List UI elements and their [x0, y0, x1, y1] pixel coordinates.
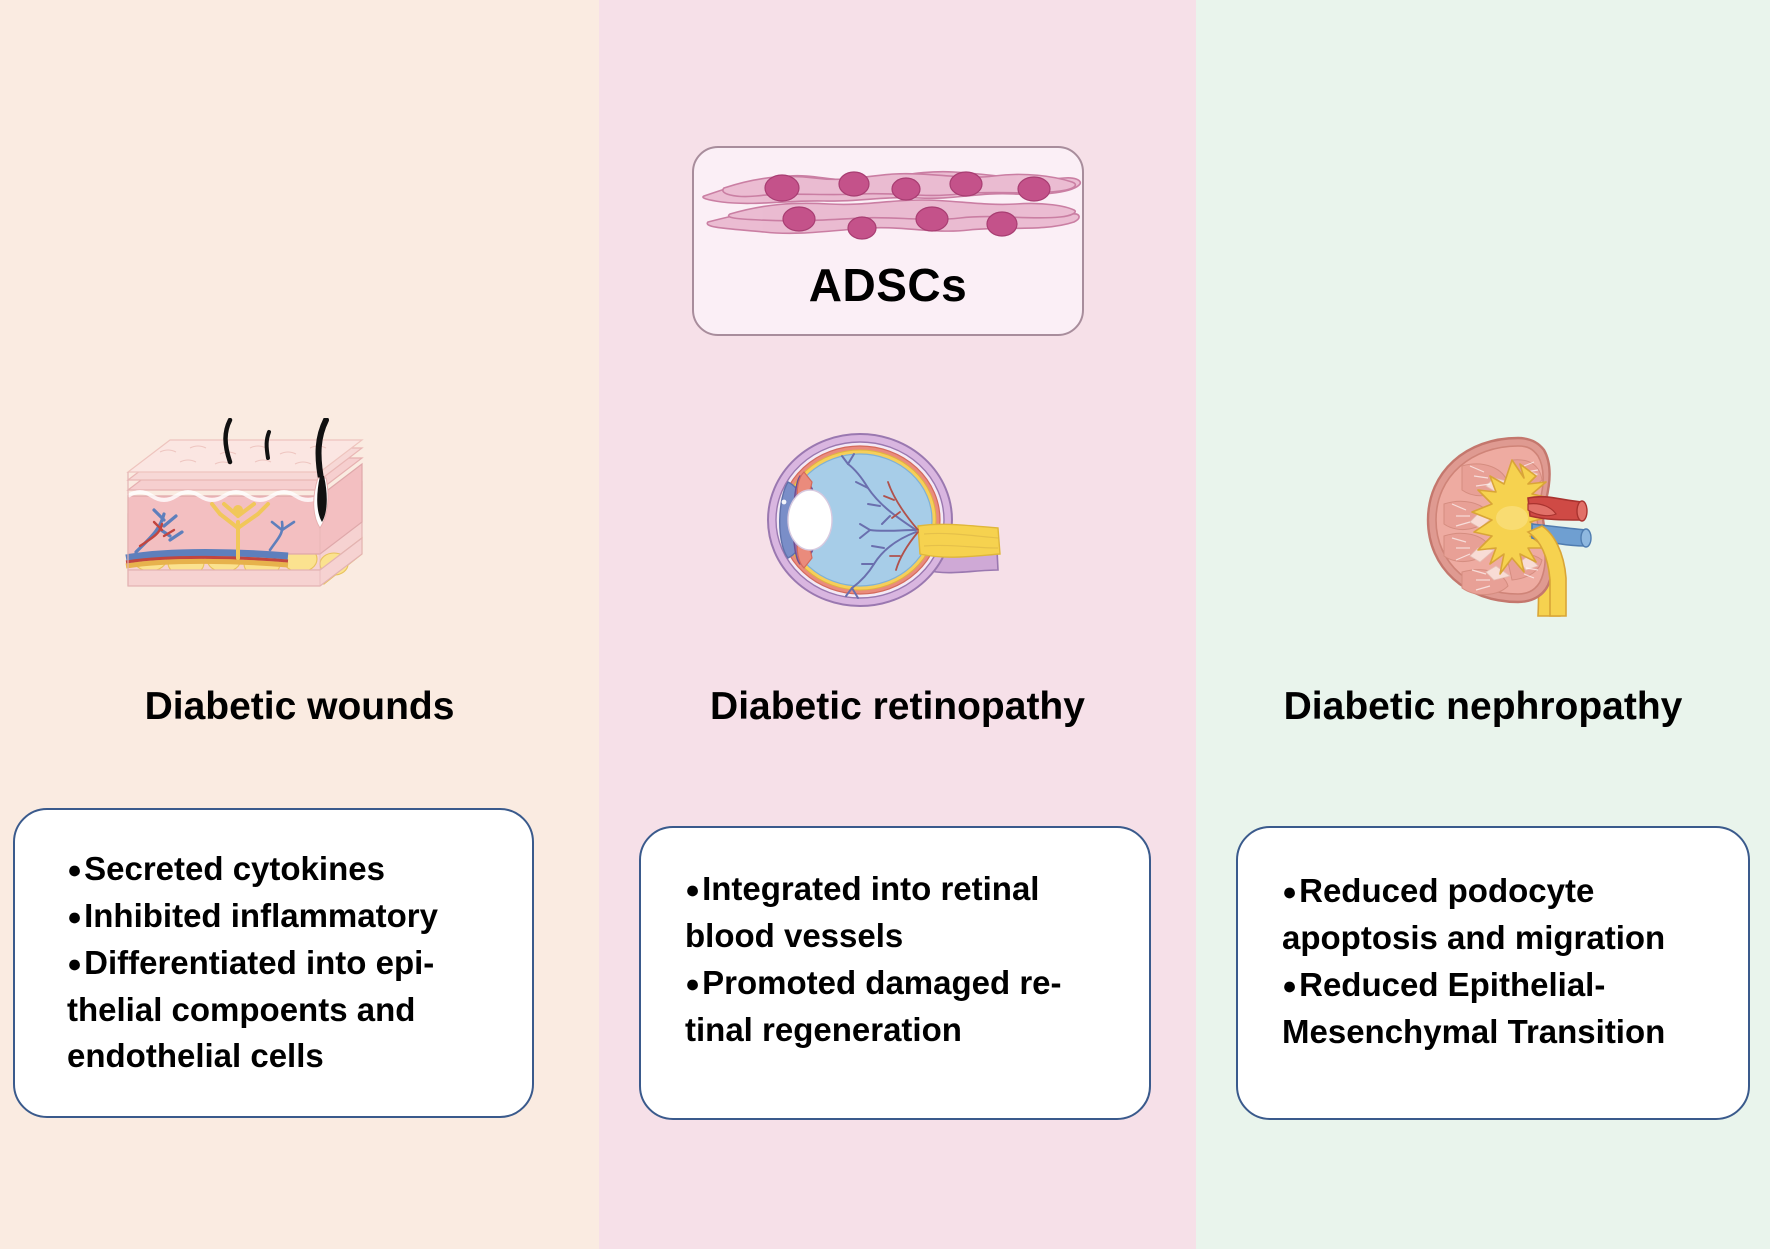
list-item: blood vessels	[685, 913, 1125, 960]
figure-canvas: ADSCs	[0, 0, 1770, 1249]
list-item: tinal regeneration	[685, 1007, 1125, 1054]
bullet-list-nephropathy: Reduced podocyte apoptosis and migration…	[1238, 828, 1748, 1055]
bullet-list-wounds: Secreted cytokines Inhibited inflammator…	[15, 810, 532, 1080]
column-heading-nephropathy: Diabetic nephropathy	[1196, 685, 1770, 729]
column-heading-wounds: Diabetic wounds	[0, 685, 599, 729]
column-heading-retinopathy: Diabetic retinopathy	[599, 685, 1196, 729]
list-item: Differentiated into epi-	[67, 940, 506, 987]
list-item: thelial compoents and	[67, 987, 506, 1034]
info-box-nephropathy: Reduced podocyte apoptosis and migration…	[1236, 826, 1750, 1120]
skin-cross-section-icon	[120, 418, 400, 618]
list-item: apoptosis and migration	[1282, 915, 1724, 962]
stem-cells-icon	[694, 156, 1084, 252]
list-item: Inhibited inflammatory	[67, 893, 506, 940]
list-item: Promoted damaged re-	[685, 960, 1125, 1007]
list-item: Mesenchymal Transition	[1282, 1009, 1724, 1056]
list-item: Reduced Epithelial-	[1282, 962, 1724, 1009]
info-box-retinopathy: Integrated into retinal blood vessels Pr…	[639, 826, 1151, 1120]
list-item: Integrated into retinal	[685, 866, 1125, 913]
bullet-list-retinopathy: Integrated into retinal blood vessels Pr…	[641, 828, 1149, 1053]
list-item: Secreted cytokines	[67, 846, 506, 893]
list-item: Reduced podocyte	[1282, 868, 1724, 915]
info-box-wounds: Secreted cytokines Inhibited inflammator…	[13, 808, 534, 1118]
adscs-card: ADSCs	[692, 146, 1084, 336]
adscs-card-label: ADSCs	[694, 258, 1082, 312]
list-item: endothelial cells	[67, 1033, 506, 1080]
kidney-cross-section-icon	[1400, 420, 1640, 620]
eye-cross-section-icon	[748, 420, 1028, 620]
